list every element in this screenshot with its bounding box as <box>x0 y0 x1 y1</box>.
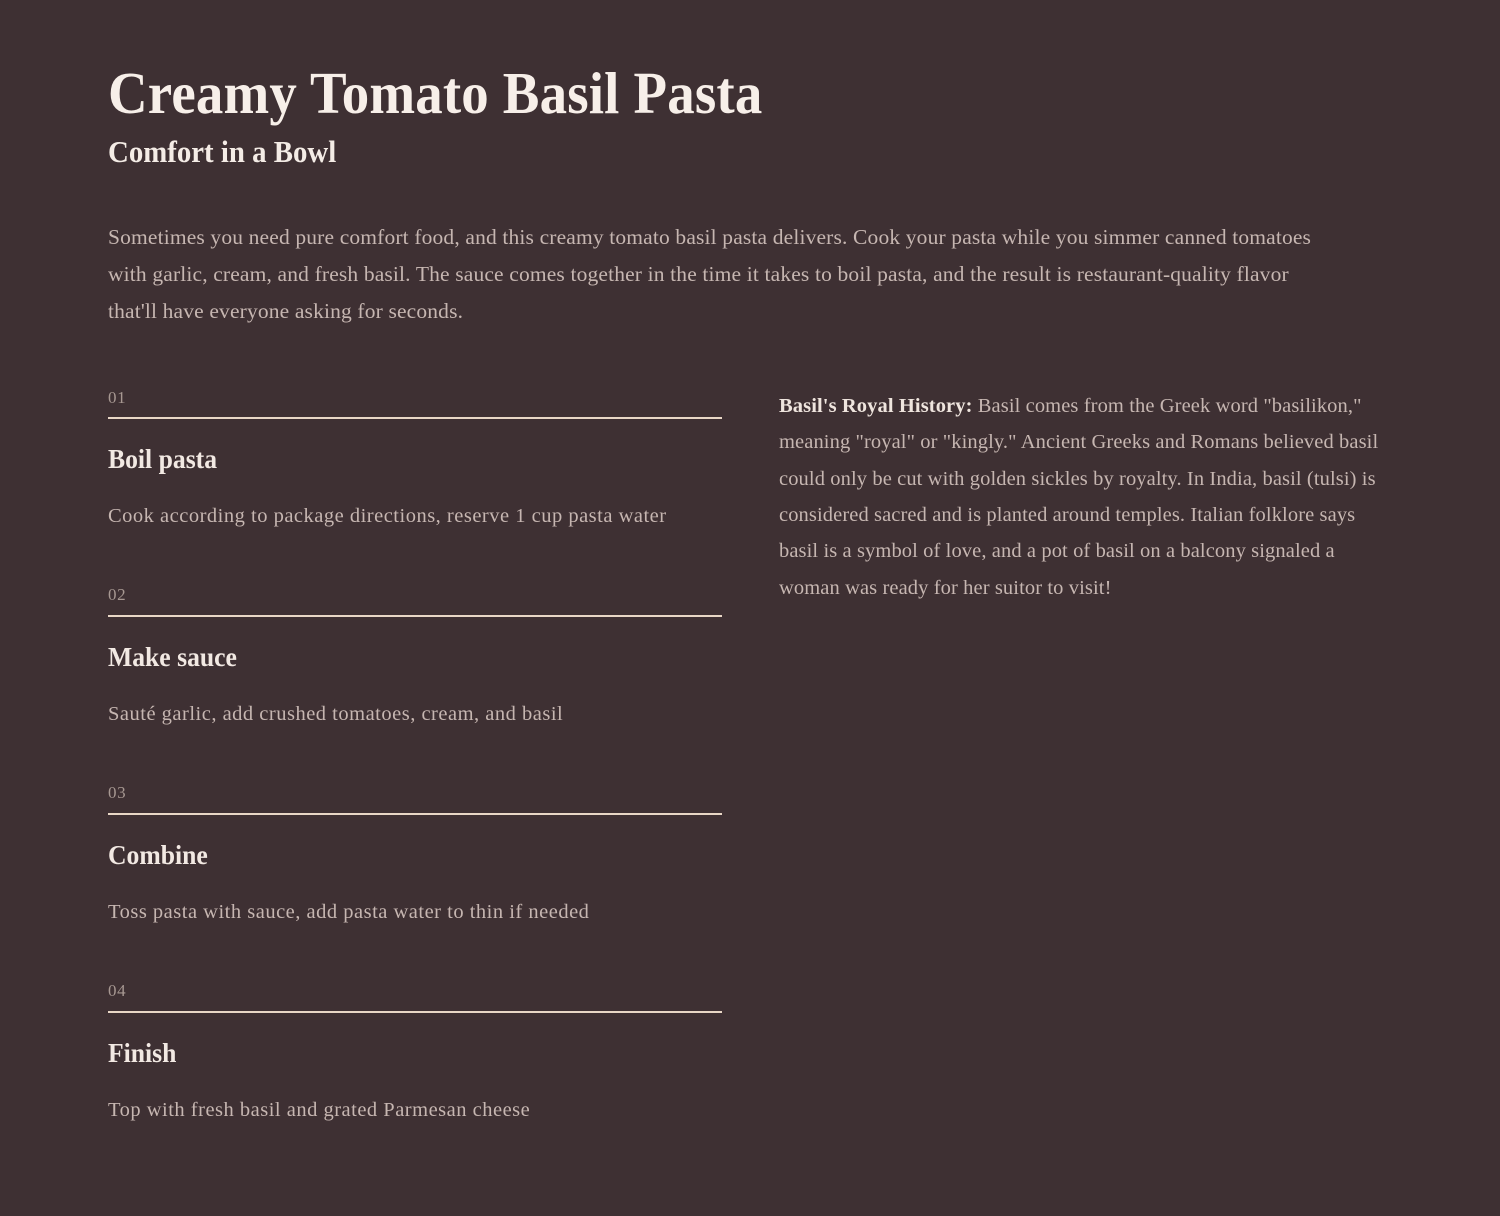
step-number: 01 <box>108 388 722 408</box>
step-title: Make sauce <box>108 642 691 673</box>
step-item: 03 Combine Toss pasta with sauce, add pa… <box>108 783 722 929</box>
note-lead-in: Basil's Royal History: <box>779 395 973 417</box>
step-item: 01 Boil pasta Cook according to package … <box>108 388 722 534</box>
step-description: Sauté garlic, add crushed tomatoes, crea… <box>108 697 722 731</box>
step-title: Finish <box>108 1038 691 1069</box>
step-description: Top with fresh basil and grated Parmesan… <box>108 1093 722 1127</box>
steps-column: 01 Boil pasta Cook according to package … <box>108 388 722 1128</box>
basil-history-note: Basil's Royal History: Basil comes from … <box>779 388 1393 607</box>
step-divider <box>108 615 722 617</box>
step-title: Boil pasta <box>108 444 691 475</box>
page-subtitle: Comfort in a Bowl <box>108 135 1302 169</box>
step-number: 03 <box>108 783 722 803</box>
recipe-page: Creamy Tomato Basil Pasta Comfort in a B… <box>0 0 1500 1216</box>
page-header: Creamy Tomato Basil Pasta Comfort in a B… <box>108 62 1392 330</box>
step-divider <box>108 1011 722 1013</box>
step-item: 04 Finish Top with fresh basil and grate… <box>108 981 722 1127</box>
step-divider <box>108 813 722 815</box>
step-divider <box>108 417 722 419</box>
step-description: Toss pasta with sauce, add pasta water t… <box>108 895 722 929</box>
step-description: Cook according to package directions, re… <box>108 499 722 533</box>
step-number: 02 <box>108 585 722 605</box>
note-column: Basil's Royal History: Basil comes from … <box>779 388 1393 607</box>
content-columns: 01 Boil pasta Cook according to package … <box>108 388 1392 1128</box>
intro-paragraph: Sometimes you need pure comfort food, an… <box>108 219 1340 330</box>
step-item: 02 Make sauce Sauté garlic, add crushed … <box>108 585 722 731</box>
step-number: 04 <box>108 981 722 1001</box>
note-body: Basil comes from the Greek word "basilik… <box>779 395 1378 599</box>
step-title: Combine <box>108 840 691 871</box>
page-title: Creamy Tomato Basil Pasta <box>108 62 1302 125</box>
